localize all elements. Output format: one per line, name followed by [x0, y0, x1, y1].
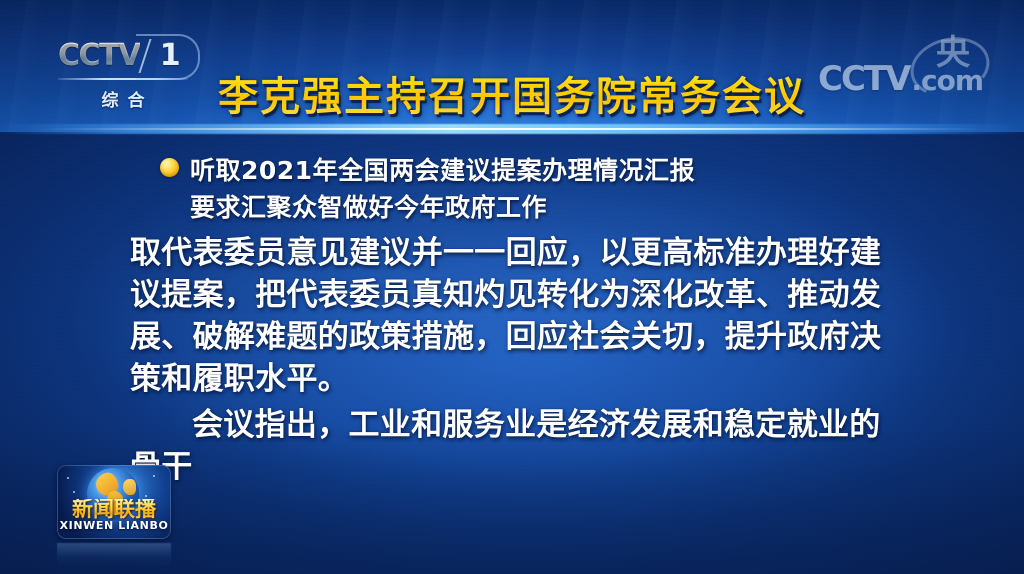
headline-title: 李克强主持召开国务院常务会议	[0, 64, 1024, 122]
subtitle-lines: 听取2021年全国两会建议提案办理情况汇报 要求汇聚众智做好今年政府工作	[190, 152, 695, 226]
subtitle-line: 听取2021年全国两会建议提案办理情况汇报	[190, 152, 695, 189]
program-name-en: XINWEN LIANBO	[57, 519, 171, 532]
xinwen-lianbo-badge: 新闻联播 XINWEN LIANBO	[57, 465, 171, 539]
program-name-cn: 新闻联播	[57, 499, 171, 520]
globe-landmass	[123, 479, 136, 495]
body-paragraph: 会议指出，工业和服务业是经济发展和稳定就业的骨干	[130, 404, 896, 488]
gold-bullet-icon	[160, 158, 179, 177]
xinwen-lianbo-logo-reflection	[57, 543, 171, 569]
star-icon	[67, 477, 69, 479]
xinwen-lianbo-logo: 新闻联播 XINWEN LIANBO	[57, 465, 171, 539]
star-icon	[73, 491, 75, 493]
star-icon	[153, 475, 155, 477]
body-paragraph: 取代表委员意见建议并一一回应，以更高标准办理好建议提案，把代表委员真知灼见转化为…	[130, 232, 896, 400]
subtitle-block: 听取2021年全国两会建议提案办理情况汇报 要求汇聚众智做好今年政府工作	[160, 152, 695, 226]
news-broadcast-screen: CCTV 1 综合 央 CCTV .com 李克强主持召开国务院常务会议 听取2…	[0, 0, 1024, 574]
subtitle-line: 要求汇聚众智做好今年政府工作	[190, 189, 695, 226]
body-text-block: 取代表委员意见建议并一一回应，以更高标准办理好建议提案，把代表委员真知灼见转化为…	[130, 232, 896, 488]
